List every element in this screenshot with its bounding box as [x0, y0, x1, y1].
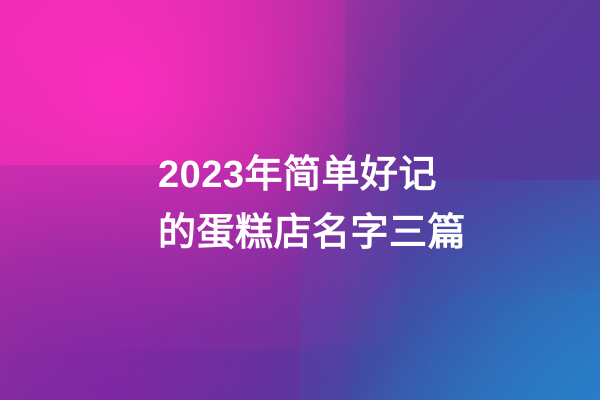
headline-line-1: 2023年简单好记 — [158, 146, 578, 204]
headline-line-2: 的蛋糕店名字三篇 — [158, 204, 578, 262]
headline-block: 2023年简单好记 的蛋糕店名字三篇 — [158, 146, 578, 262]
gradient-banner: 2023年简单好记 的蛋糕店名字三篇 — [0, 0, 600, 400]
